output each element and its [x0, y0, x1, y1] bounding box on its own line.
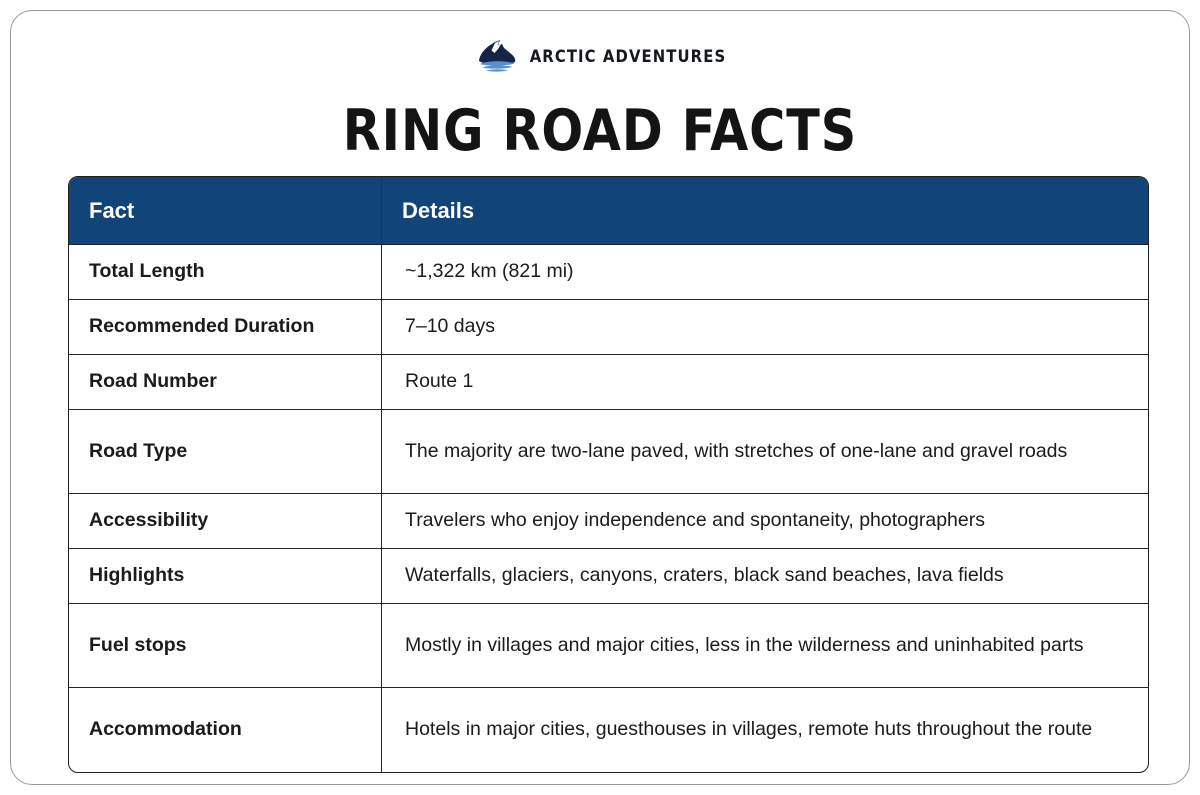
brand-name: ARCTIC ADVENTURES	[530, 47, 727, 66]
cell-details: Travelers who enjoy independence and spo…	[382, 494, 1148, 549]
ring-road-facts-table: Fact Details Total Length ~1,322 km (821…	[68, 176, 1149, 773]
table-header: Fact Details	[69, 177, 1148, 245]
table-header-row: Fact Details	[69, 177, 1148, 245]
cell-details: Mostly in villages and major cities, les…	[382, 604, 1148, 688]
cell-details: ~1,322 km (821 mi)	[382, 245, 1148, 300]
infographic-page: ARCTIC ADVENTURES RING ROAD FACTS Fact D…	[0, 0, 1200, 795]
cell-details: Hotels in major cities, guesthouses in v…	[382, 688, 1148, 772]
cell-fact: Road Type	[69, 410, 382, 494]
mountain-wave-logo-icon	[474, 39, 520, 73]
cell-fact: Fuel stops	[69, 604, 382, 688]
column-header-details: Details	[382, 177, 1148, 245]
cell-fact: Recommended Duration	[69, 300, 382, 355]
cell-fact: Total Length	[69, 245, 382, 300]
brand-header: ARCTIC ADVENTURES	[11, 39, 1189, 73]
cell-fact: Highlights	[69, 549, 382, 604]
content-card: ARCTIC ADVENTURES RING ROAD FACTS Fact D…	[10, 10, 1190, 785]
table-body: Total Length ~1,322 km (821 mi) Recommen…	[69, 245, 1148, 772]
cell-fact: Accommodation	[69, 688, 382, 772]
table-row: Accessibility Travelers who enjoy indepe…	[69, 494, 1148, 549]
table-row: Road Type The majority are two-lane pave…	[69, 410, 1148, 494]
cell-fact: Road Number	[69, 355, 382, 410]
cell-details: The majority are two-lane paved, with st…	[382, 410, 1148, 494]
cell-fact: Accessibility	[69, 494, 382, 549]
page-title: RING ROAD FACTS	[35, 103, 1166, 160]
table-row: Recommended Duration 7–10 days	[69, 300, 1148, 355]
column-header-fact: Fact	[69, 177, 382, 245]
cell-details: Waterfalls, glaciers, canyons, craters, …	[382, 549, 1148, 604]
table-row: Fuel stops Mostly in villages and major …	[69, 604, 1148, 688]
table-row: Highlights Waterfalls, glaciers, canyons…	[69, 549, 1148, 604]
table-row: Total Length ~1,322 km (821 mi)	[69, 245, 1148, 300]
cell-details: Route 1	[382, 355, 1148, 410]
cell-details: 7–10 days	[382, 300, 1148, 355]
table-row: Accommodation Hotels in major cities, gu…	[69, 688, 1148, 772]
table-row: Road Number Route 1	[69, 355, 1148, 410]
